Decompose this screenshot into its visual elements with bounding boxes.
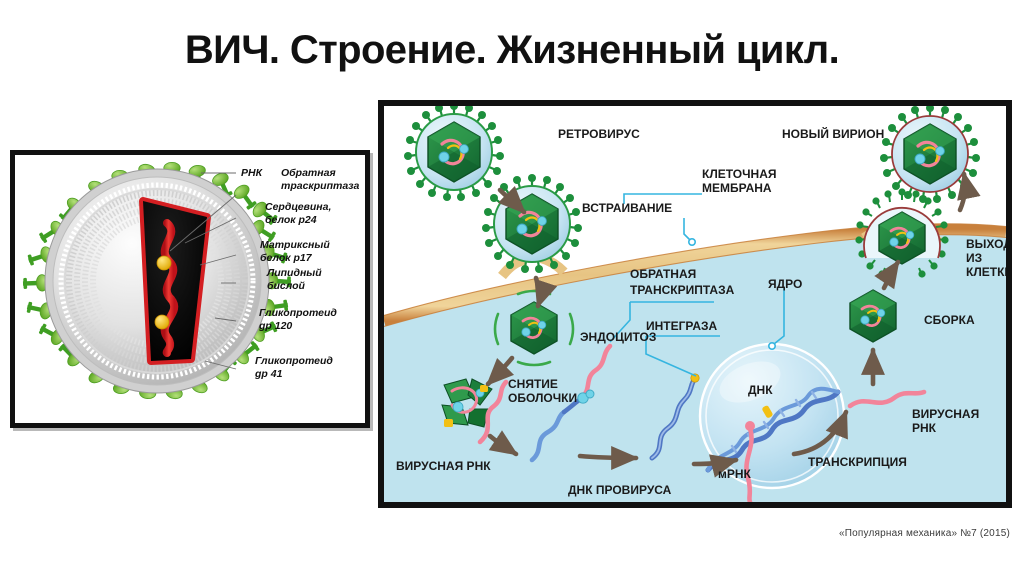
label-viral-rna-right-line1: ВИРУСНАЯ bbox=[912, 407, 979, 421]
capsid-core-p24 bbox=[143, 201, 207, 361]
virion-structure-figure: РНК Обратная траскриптаза Сердцевина, бе… bbox=[15, 155, 365, 423]
label-mrna: мРНК bbox=[718, 467, 752, 481]
label-rt-line2: ТРАНСКРИПТАЗА bbox=[630, 283, 735, 297]
label-uncoating-line1: СНЯТИЕ bbox=[508, 377, 558, 391]
label-cell-membrane-line1: КЛЕТОЧНАЯ bbox=[702, 167, 777, 181]
slide-root: ВИЧ. Строение. Жизненный цикл. bbox=[0, 0, 1024, 576]
label-transcription: ТРАНСКРИПЦИЯ bbox=[808, 455, 907, 469]
label-dna: ДНК bbox=[748, 383, 773, 397]
page-title: ВИЧ. Строение. Жизненный цикл. bbox=[0, 28, 1024, 73]
lifecycle-panel: РЕТРОВИРУС НОВЫЙ ВИРИОН ВСТРАИВАНИЕ КЛЕТ… bbox=[378, 100, 1012, 508]
structure-label-core-line2: белок p24 bbox=[265, 214, 317, 226]
label-exit-line1: ВЫХОД bbox=[966, 237, 1006, 251]
structure-label-rt-line1: Обратная bbox=[281, 167, 336, 179]
structure-label-lipid-line2: бислой bbox=[267, 280, 306, 292]
label-nucleus: ЯДРО bbox=[768, 277, 802, 291]
lifecycle-figure: РЕТРОВИРУС НОВЫЙ ВИРИОН ВСТРАИВАНИЕ КЛЕТ… bbox=[384, 106, 1006, 502]
label-exit-line3: КЛЕТКИ bbox=[966, 265, 1006, 279]
label-uncoating-line2: ОБОЛОЧКИ bbox=[508, 391, 577, 405]
source-caption: «Популярная механика» №7 (2015) bbox=[0, 528, 1010, 539]
structure-label-gp41-line1: Гликопротеид bbox=[255, 355, 333, 367]
structure-label-rt-line2: траскриптаза bbox=[281, 180, 360, 192]
structure-label-gp120-line1: Гликопротеид bbox=[259, 307, 337, 319]
label-endocytosis: ЭНДОЦИТОЗ bbox=[580, 330, 656, 344]
structure-label-lipid-line1: Липидный bbox=[266, 267, 322, 279]
label-new-virion: НОВЫЙ ВИРИОН bbox=[782, 126, 884, 141]
structure-label-gp41-line2: gp 41 bbox=[254, 368, 283, 380]
label-viral-rna-left: ВИРУСНАЯ РНК bbox=[396, 459, 491, 473]
arrow-to-provirus bbox=[580, 456, 636, 458]
label-assembly: СБОРКА bbox=[924, 313, 975, 327]
structure-label-core-line1: Сердцевина, bbox=[265, 201, 331, 213]
label-provirus-dna: ДНК ПРОВИРУСА bbox=[568, 483, 672, 497]
label-exit-line2: ИЗ bbox=[966, 251, 982, 265]
label-rt-line1: ОБРАТНАЯ bbox=[630, 267, 696, 281]
label-viral-rna-right-line2: РНК bbox=[912, 421, 937, 435]
structure-label-matrix-line1: Матриксный bbox=[260, 239, 330, 251]
label-retrovirus: РЕТРОВИРУС bbox=[558, 127, 640, 141]
label-cell-membrane-line2: МЕМБРАНА bbox=[702, 181, 772, 195]
label-integrase: ИНТЕГРАЗА bbox=[646, 319, 718, 333]
virion-structure-panel: РНК Обратная траскриптаза Сердцевина, бе… bbox=[10, 150, 370, 428]
structure-label-matrix-line2: белок p17 bbox=[260, 252, 313, 264]
label-entry: ВСТРАИВАНИЕ bbox=[582, 201, 672, 215]
structure-label-rna: РНК bbox=[241, 167, 264, 179]
structure-label-gp120-line2: gp 120 bbox=[258, 320, 292, 332]
